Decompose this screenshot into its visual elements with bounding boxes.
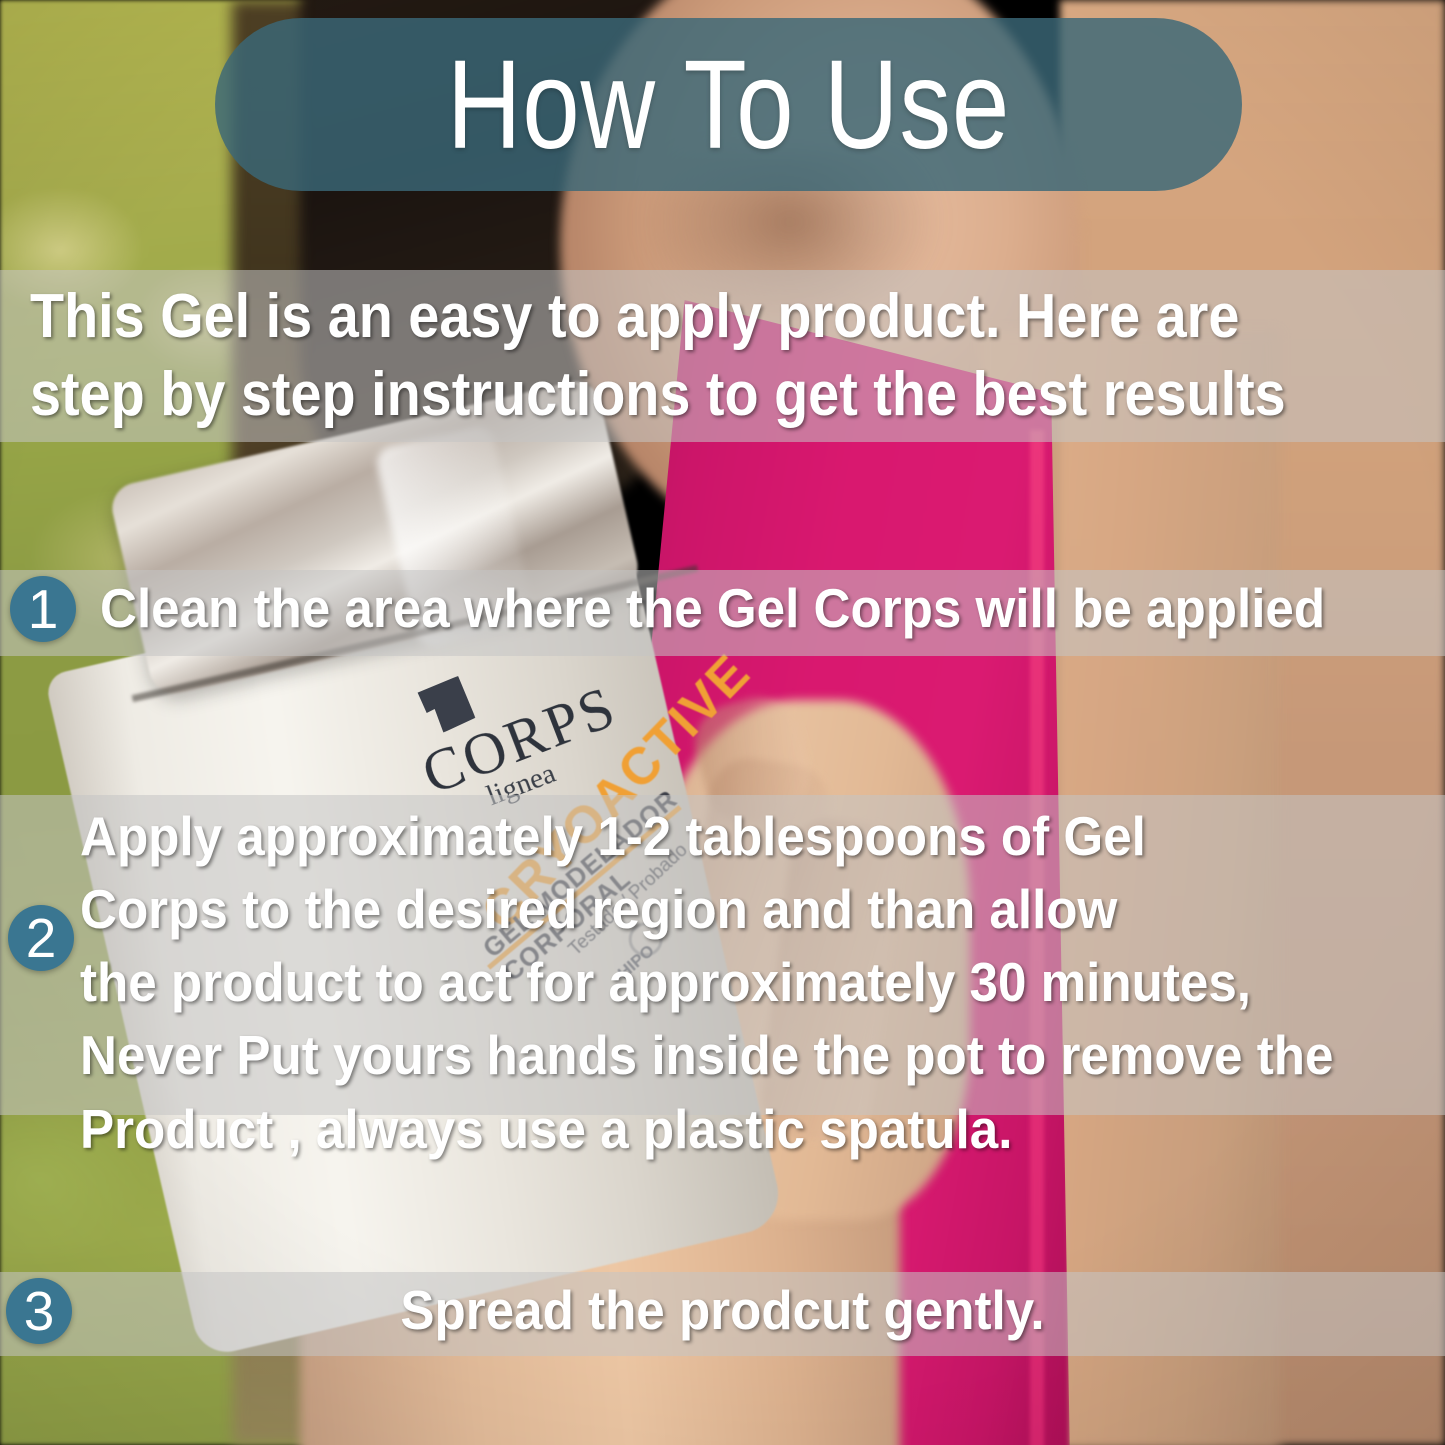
subtitle-line-1: This Gel is an easy to apply product. He… [30, 278, 1290, 356]
step-1-text: Clean the area where the Gel Corps will … [100, 578, 1346, 639]
subtitle: This Gel is an easy to apply product. He… [30, 278, 1290, 433]
step-2-badge: 2 [8, 905, 74, 971]
step-2-line-3: the product to act for approximately 30 … [80, 946, 1354, 1019]
title-banner: How To Use [215, 18, 1242, 191]
background-photo: CORPS lignea CRYOACTIVE GEL MODELADOR CO… [0, 0, 1445, 1445]
step-2-line-4: Never Put yours hands inside the pot to … [80, 1019, 1354, 1092]
step-3-text: Spread the prodcut gently. [51, 1280, 1395, 1341]
photo-vignette [0, 0, 1445, 1445]
page-title: How To Use [447, 42, 1010, 168]
subtitle-line-2: step by step instructions to get the bes… [30, 356, 1290, 434]
step-1-badge: 1 [10, 576, 76, 642]
step-2-text: Apply approximately 1-2 tablespoons of G… [80, 800, 1354, 1166]
step-2-line-2: Corps to the desired region and than all… [80, 873, 1354, 946]
step-2-line-1: Apply approximately 1-2 tablespoons of G… [80, 800, 1354, 873]
step-2-line-5: Product , always use a plastic spatula. [80, 1093, 1354, 1166]
how-to-use-poster: CORPS lignea CRYOACTIVE GEL MODELADOR CO… [0, 0, 1445, 1445]
